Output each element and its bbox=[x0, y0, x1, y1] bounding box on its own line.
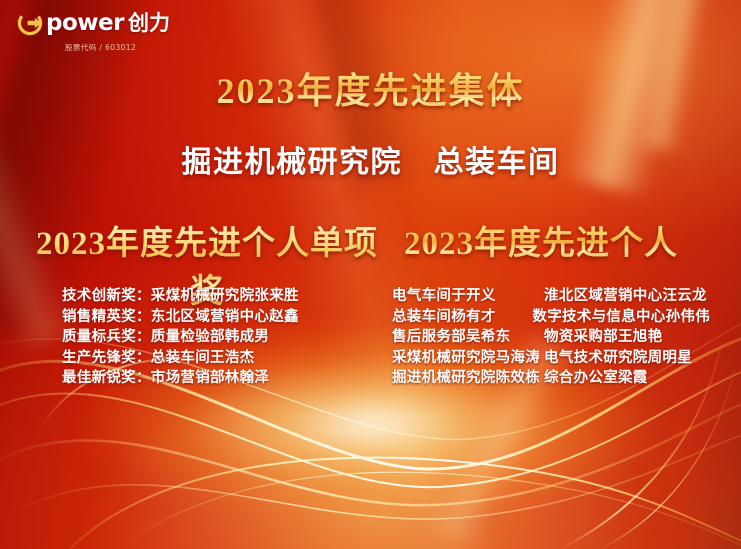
award-poster: power 创力 股票代码 / 603012 2023年度先进集体 掘进机械研究… bbox=[0, 0, 741, 549]
list-item: 电气车间于开义 淮北区域营销中心汪云龙 bbox=[392, 286, 710, 307]
individual-list: 电气车间于开义 淮北区域营销中心汪云龙 总装车间杨有才 数字技术与信息中心孙伟伟… bbox=[392, 286, 710, 389]
list-item: 生产先锋奖：总装车间王浩杰 bbox=[62, 348, 312, 369]
list-item: 掘进机械研究院陈效栋 综合办公室梁霞 bbox=[392, 368, 710, 389]
person-name: 掘进机械研究院陈效栋 bbox=[392, 368, 544, 389]
list-item: 售后服务部吴希东 物资采购部王旭艳 bbox=[392, 327, 710, 348]
person-name: 售后服务部吴希东 bbox=[392, 327, 544, 348]
award-list: 技术创新奖：采煤机械研究院张来胜 销售精英奖：东北区域营销中心赵鑫 质量标兵奖：… bbox=[62, 286, 312, 389]
page-title: 2023年度先进集体 bbox=[0, 62, 741, 114]
list-item: 最佳新锐奖：市场营销部林翰泽 bbox=[62, 368, 312, 389]
poster-content: 2023年度先进集体 掘进机械研究院 总装车间 2023年度先进个人单项奖 20… bbox=[0, 0, 741, 549]
collective-winners: 掘进机械研究院 总装车间 bbox=[0, 137, 741, 181]
list-item: 总装车间杨有才 数字技术与信息中心孙伟伟 bbox=[392, 307, 710, 328]
person-name: 物资采购部王旭艳 bbox=[544, 327, 710, 348]
person-name: 采煤机械研究院马海涛 bbox=[392, 348, 544, 369]
person-name: 数字技术与信息中心孙伟伟 bbox=[532, 307, 710, 328]
person-name: 总装车间杨有才 bbox=[392, 307, 532, 328]
list-item: 技术创新奖：采煤机械研究院张来胜 bbox=[62, 286, 312, 307]
person-name: 淮北区域营销中心汪云龙 bbox=[544, 286, 710, 307]
list-item: 质量标兵奖：质量检验部韩成男 bbox=[62, 327, 312, 348]
person-name: 综合办公室梁霞 bbox=[544, 368, 710, 389]
list-item: 采煤机械研究院马海涛 电气技术研究院周明星 bbox=[392, 348, 710, 369]
person-name: 电气技术研究院周明星 bbox=[544, 348, 710, 369]
section-heading-individuals: 2023年度先进个人 bbox=[396, 216, 686, 264]
list-item: 销售精英奖：东北区域营销中心赵鑫 bbox=[62, 307, 312, 328]
person-name: 电气车间于开义 bbox=[392, 286, 544, 307]
